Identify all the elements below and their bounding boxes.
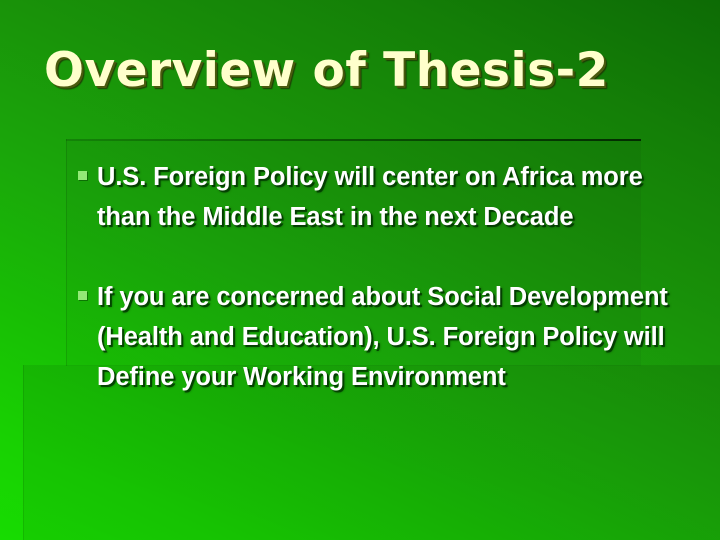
slide-title: Overview of Thesis-2 — [44, 43, 684, 99]
slide-body-bullet-list: U.S. Foreign Policy will center on Afric… — [70, 157, 680, 397]
presentation-slide: Overview of Thesis-2 U.S. Foreign Policy… — [0, 0, 720, 540]
bullet-list-item-text: U.S. Foreign Policy will center on Afric… — [97, 157, 680, 237]
square-bullet-icon — [78, 291, 87, 300]
bullet-list-item-text: If you are concerned about Social Develo… — [97, 277, 680, 397]
bullet-list-item: U.S. Foreign Policy will center on Afric… — [70, 157, 680, 237]
title-divider-rule — [66, 139, 641, 141]
square-bullet-icon — [78, 171, 87, 180]
bullet-list-item: If you are concerned about Social Develo… — [70, 277, 680, 397]
